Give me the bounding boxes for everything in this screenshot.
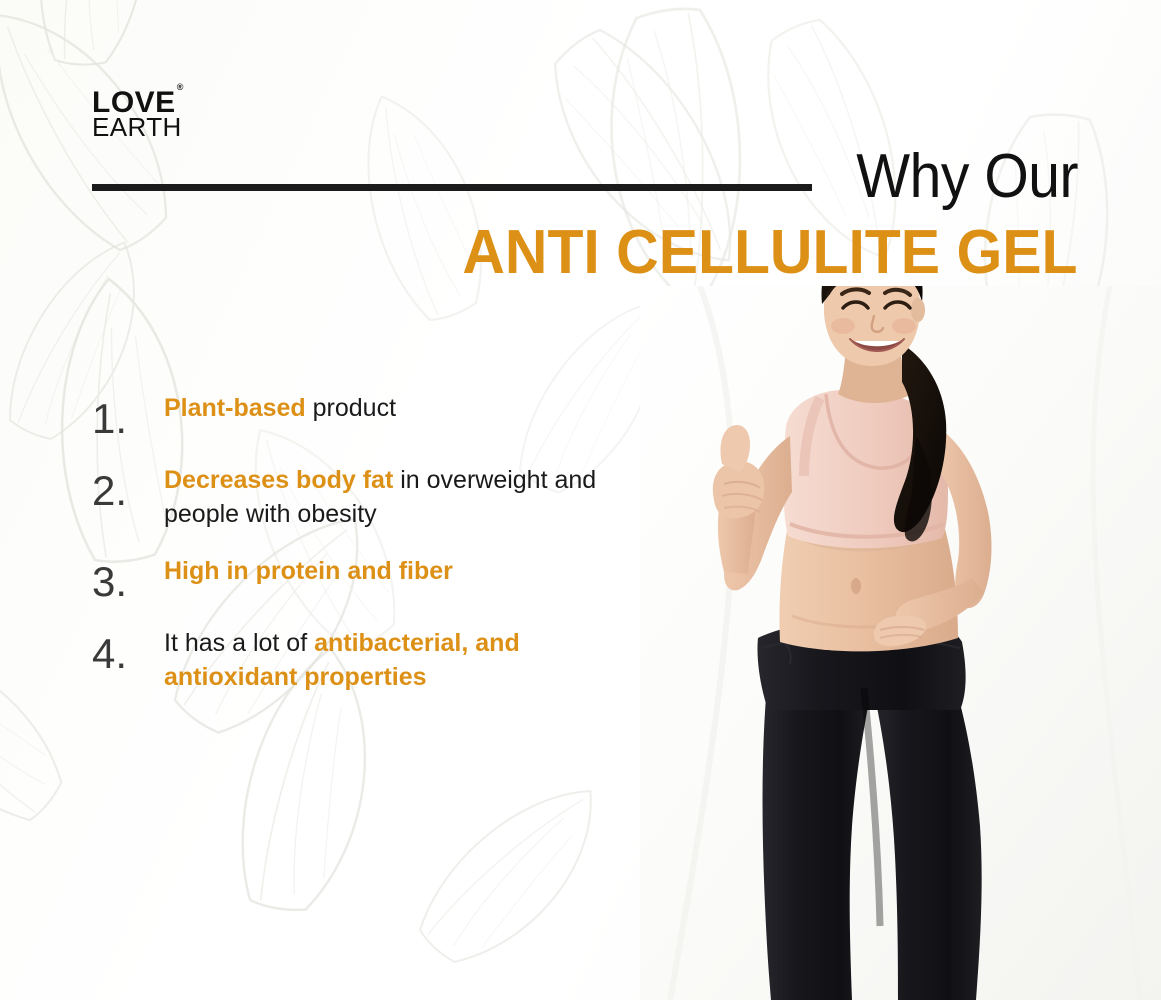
benefit-item-4: 4. It has a lot of antibacterial, and an… [92, 627, 652, 694]
benefit-item-1: 1. Plant-based product [92, 392, 652, 440]
poster-canvas: LOVE® EARTH Why Our ANTI CELLULITE GEL 1… [0, 0, 1161, 1000]
benefit-lead-4: It has a lot of [164, 629, 314, 657]
heading-line-two: ANTI CELLULITE GEL [463, 222, 1078, 284]
benefit-item-3: 3. High in protein and fiber [92, 555, 652, 603]
benefit-number-3: 3. [92, 555, 164, 603]
benefit-text-4: It has a lot of antibacterial, and antio… [164, 627, 634, 694]
logo-text-love: LOVE® [92, 88, 183, 118]
brand-logo: LOVE® EARTH [92, 88, 183, 140]
logo-love-word: LOVE [92, 86, 176, 119]
benefit-text-3: High in protein and fiber [164, 555, 634, 589]
benefit-highlight-1: Plant-based [164, 394, 306, 422]
benefits-list: 1. Plant-based product 2. Decreases body… [92, 392, 652, 718]
benefit-number-4: 4. [92, 627, 164, 675]
model-photo [640, 286, 1161, 1000]
benefit-text-1: Plant-based product [164, 392, 634, 426]
benefit-highlight-2: Decreases body fat [164, 466, 393, 494]
benefit-highlight-3: High in protein and fiber [164, 557, 453, 585]
registered-trademark-icon: ® [177, 82, 184, 92]
benefit-item-2: 2. Decreases body fat in overweight and … [92, 464, 652, 531]
benefit-number-1: 1. [92, 392, 164, 440]
heading-divider-rule [92, 184, 812, 191]
benefit-rest-1: product [306, 394, 396, 422]
heading-line-one: Why Our [856, 146, 1078, 208]
benefit-text-2: Decreases body fat in overweight and peo… [164, 464, 634, 531]
benefit-number-2: 2. [92, 464, 164, 512]
